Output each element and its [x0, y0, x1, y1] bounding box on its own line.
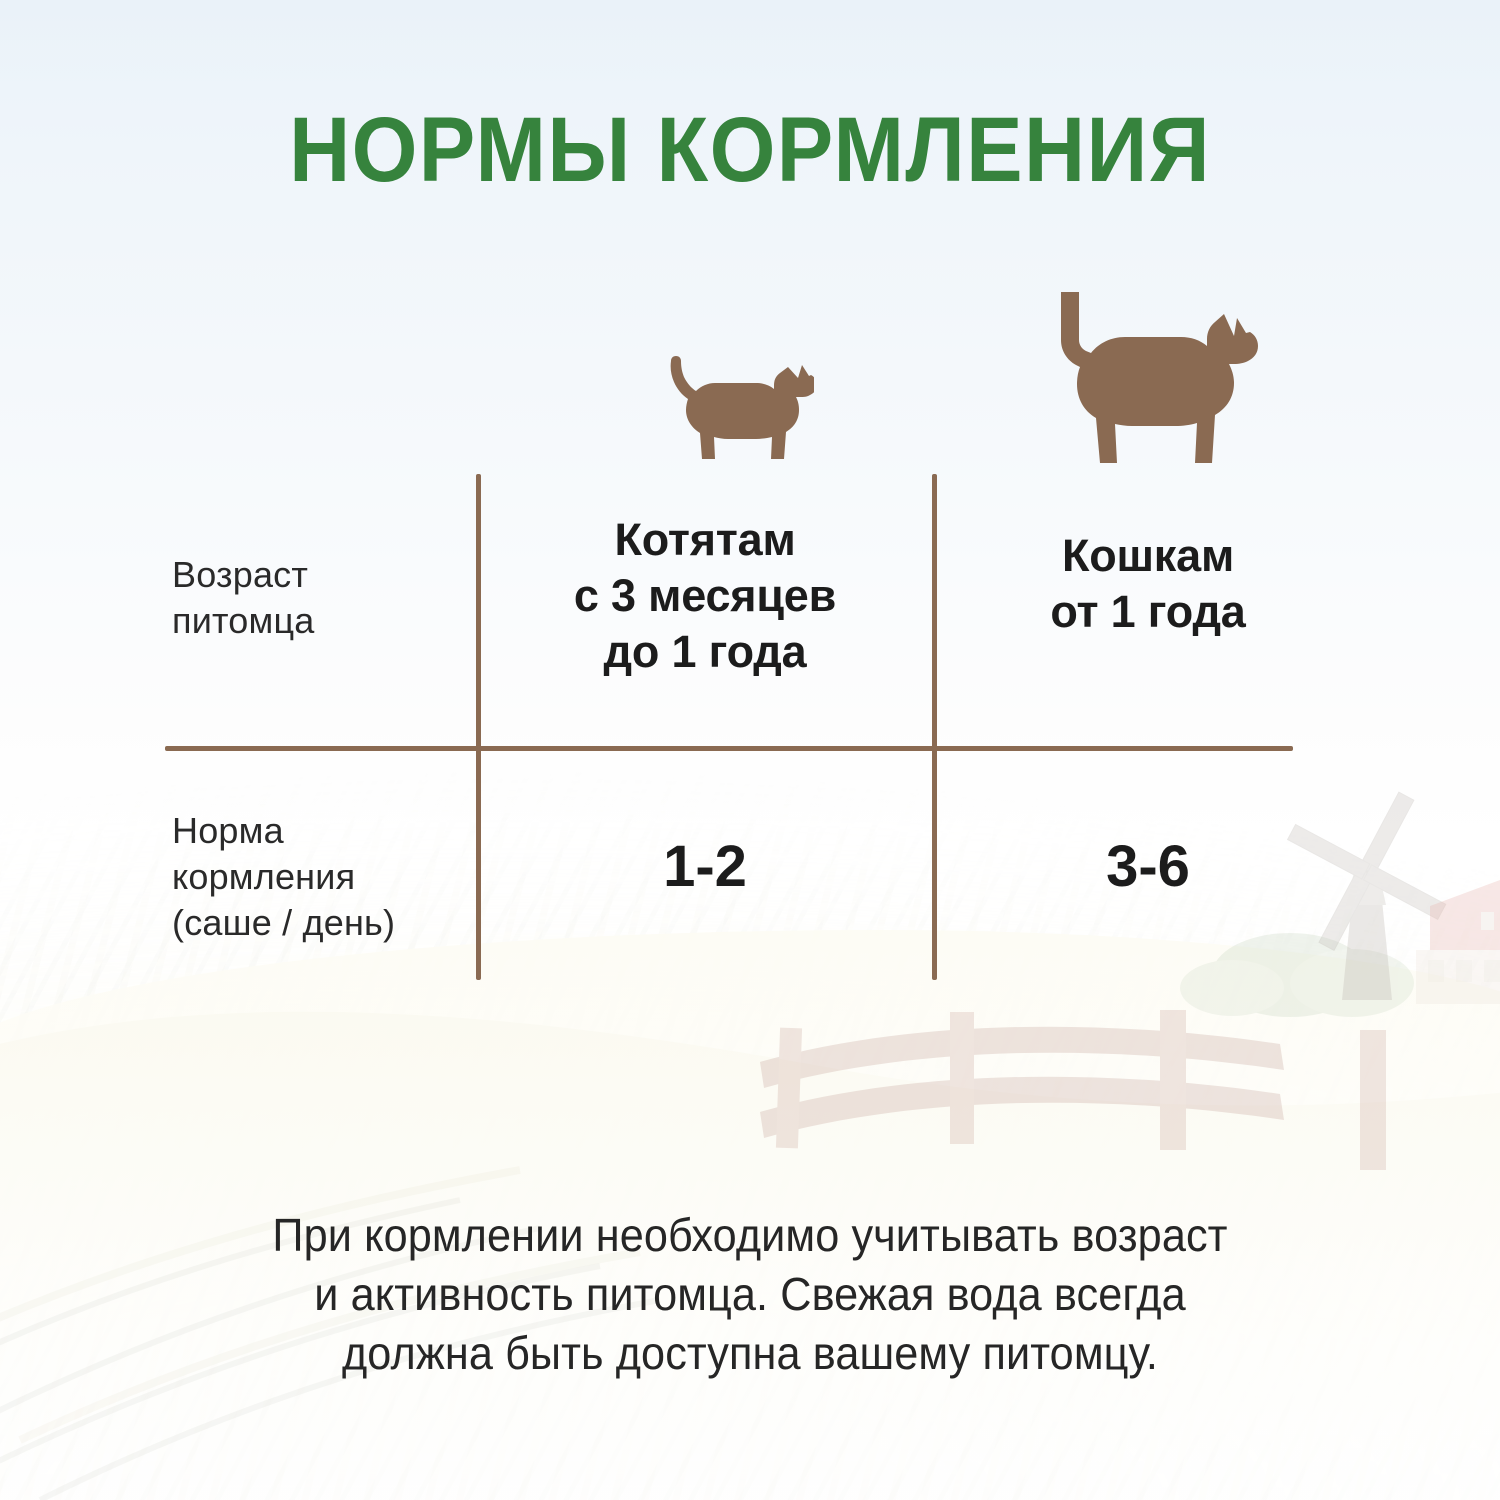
column-header-adult-cat: Кошкам от 1 года: [948, 528, 1348, 640]
column-header-kitten-line2: с 3 месяцев: [492, 568, 918, 624]
table-divider-horizontal: [165, 746, 1293, 751]
row-label-norm-line3: (саше / день): [172, 900, 395, 946]
table-divider-vertical-1: [476, 474, 481, 980]
row-label-age-line1: Возраст: [172, 552, 315, 598]
row-label-age: Возраст питомца: [172, 552, 315, 644]
row-label-norm-line1: Норма: [172, 808, 395, 854]
cell-value-adult-amount: 3-6: [948, 836, 1348, 898]
feeding-note: При кормлении необходимо учитывать возра…: [186, 1206, 1314, 1383]
feeding-guidelines-poster: НОРМЫ КОРМЛЕНИЯ Возраст питомца Котятам …: [0, 0, 1500, 1500]
column-header-kitten: Котятам с 3 месяцев до 1 года: [492, 512, 918, 680]
column-header-adult-line2: от 1 года: [948, 584, 1348, 640]
row-label-norm-line2: кормления: [172, 854, 395, 900]
feeding-note-line1: При кормлении необходимо учитывать возра…: [186, 1206, 1314, 1265]
kitten-silhouette-icon: [648, 352, 814, 462]
row-label-age-line2: питомца: [172, 598, 315, 644]
column-header-adult-line1: Кошкам: [948, 528, 1348, 584]
cell-value-kitten-amount: 1-2: [492, 836, 918, 898]
table-divider-vertical-2: [932, 474, 937, 980]
feeding-note-line2: и активность питомца. Свежая вода всегда: [186, 1265, 1314, 1324]
feeding-note-line3: должна быть доступна вашему питомцу.: [186, 1324, 1314, 1383]
adult-cat-silhouette-icon: [1048, 292, 1260, 468]
column-header-kitten-line3: до 1 года: [492, 624, 918, 680]
column-header-kitten-line1: Котятам: [492, 512, 918, 568]
row-label-feeding-norm: Норма кормления (саше / день): [172, 808, 395, 946]
